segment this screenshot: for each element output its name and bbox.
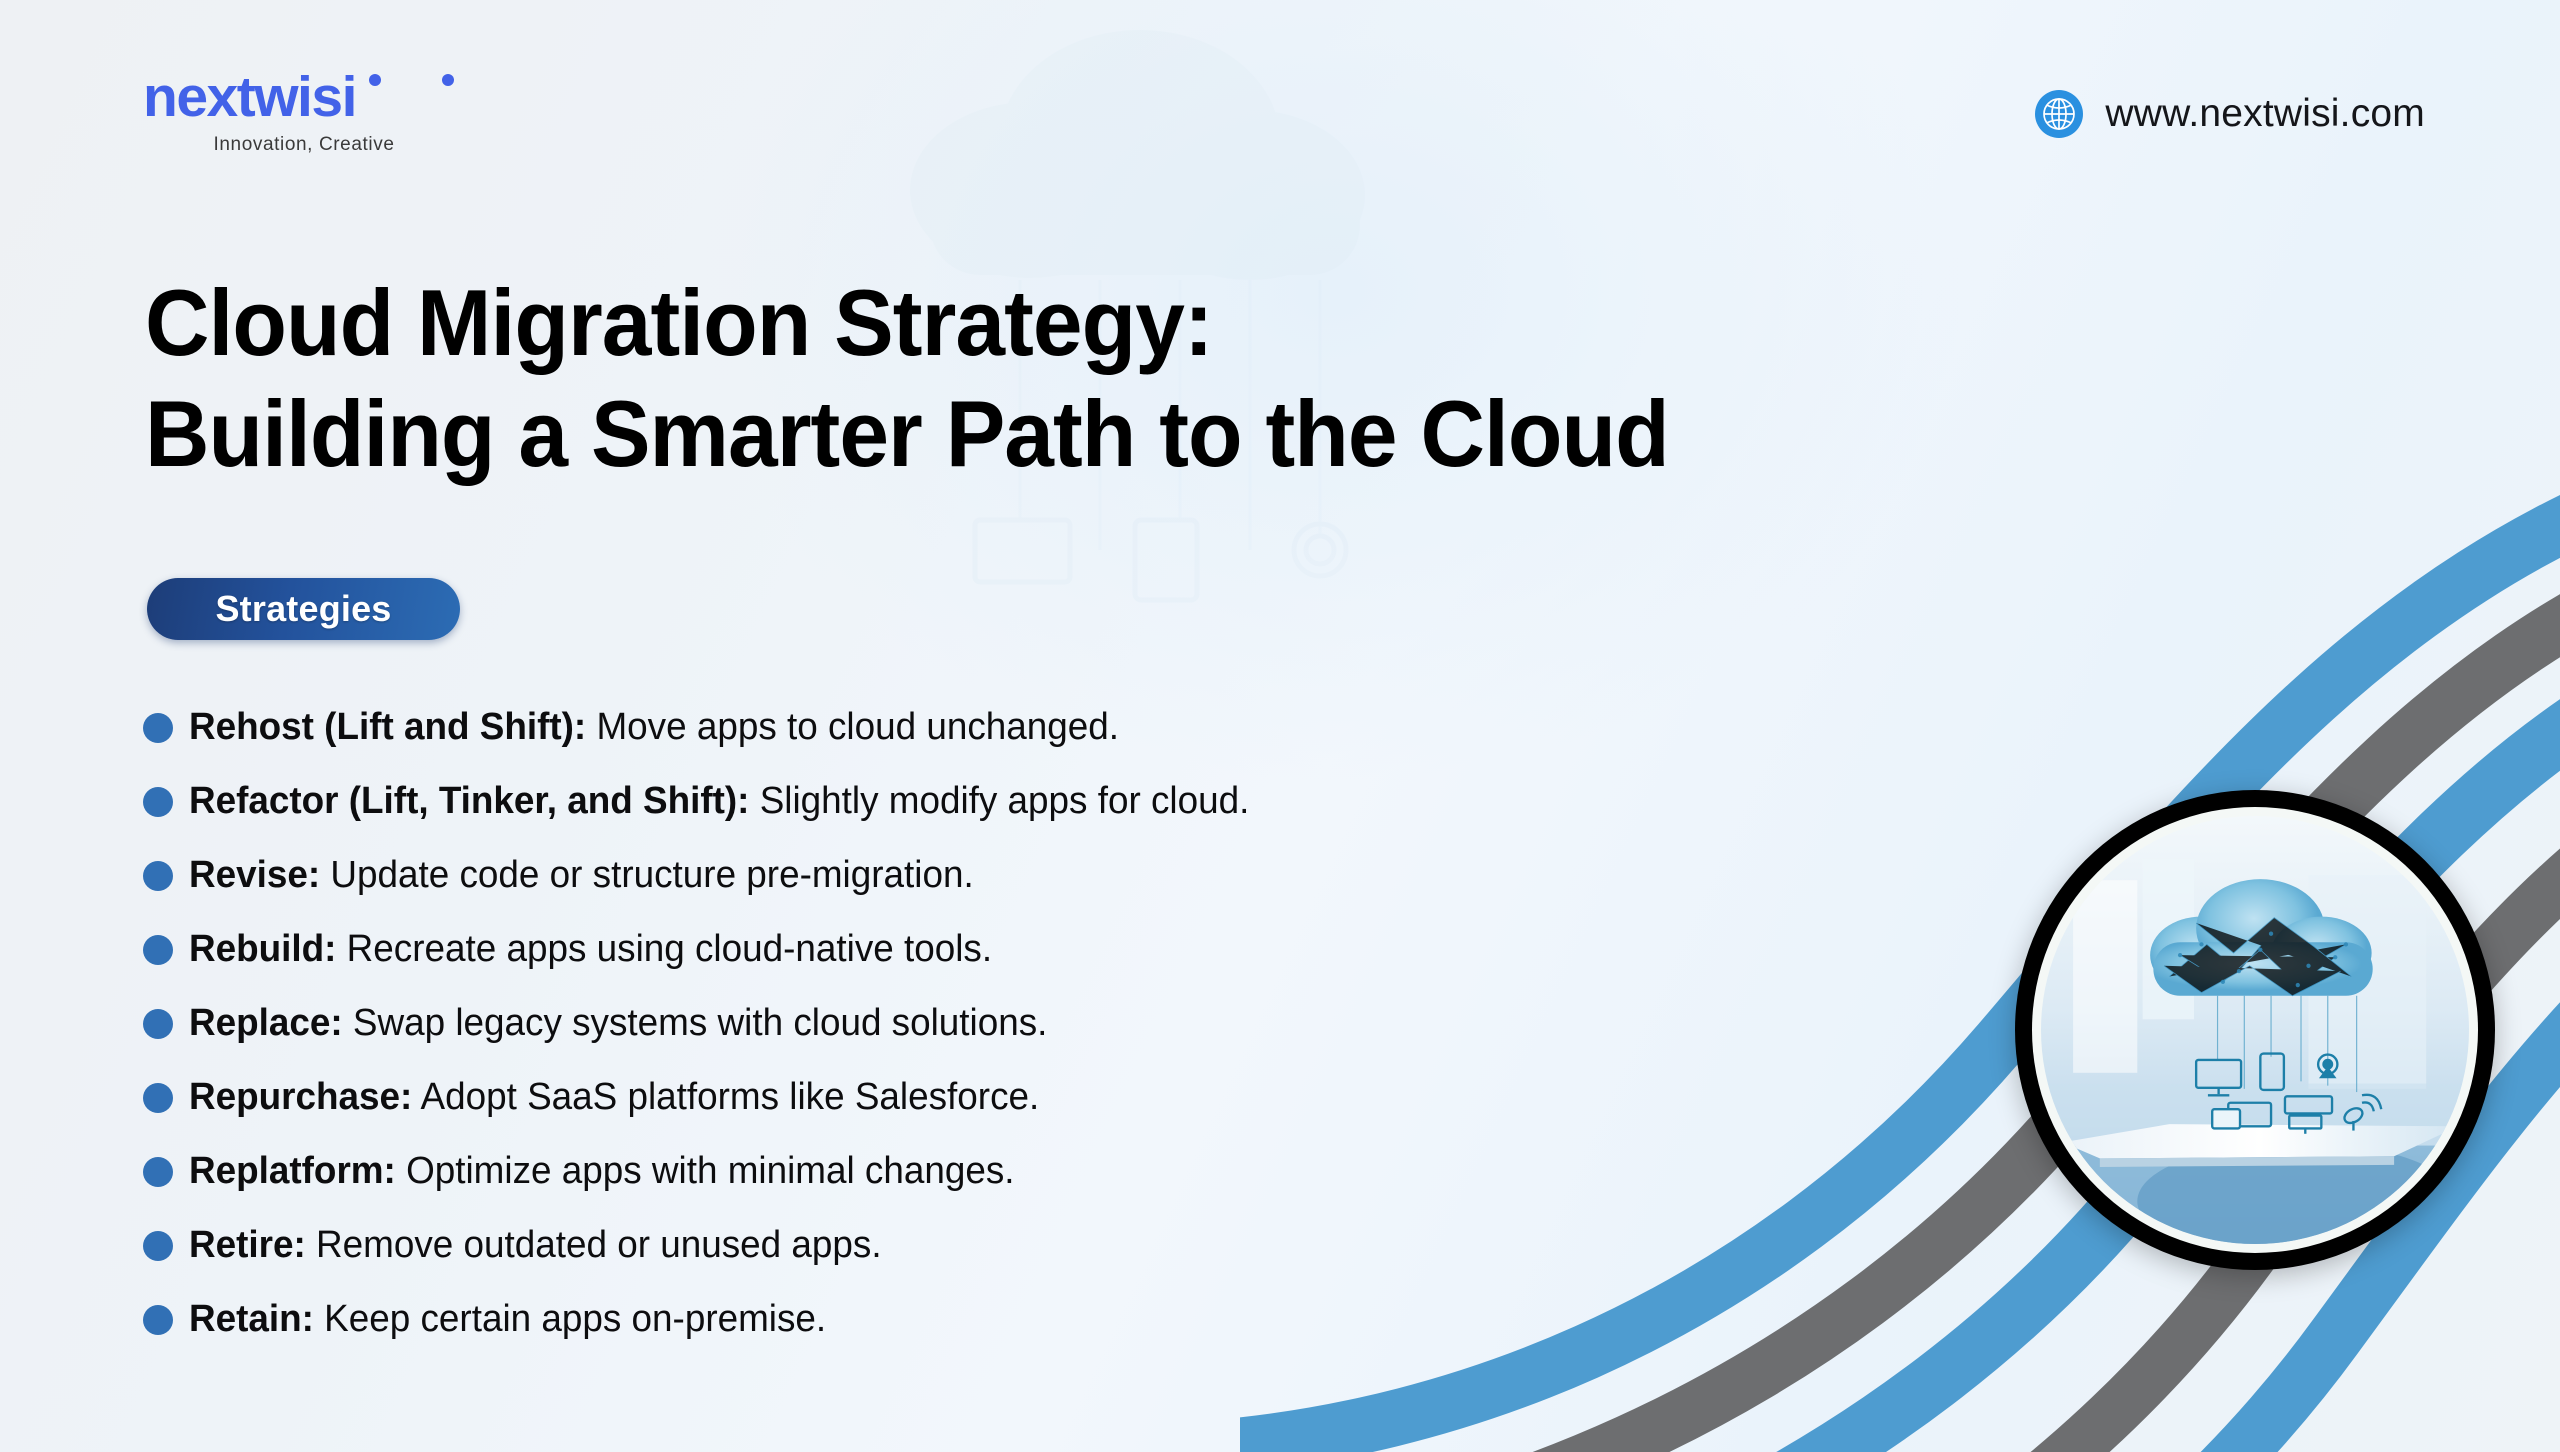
list-item-text: Rebuild: Recreate apps using cloud-nativ… bbox=[189, 922, 992, 977]
list-item-label: Refactor (Lift, Tinker, and Shift): bbox=[189, 780, 749, 822]
list-item: Replace: Swap legacy systems with cloud … bbox=[143, 996, 2143, 1070]
list-item-label: Rebuild: bbox=[189, 928, 336, 970]
list-item-description: Swap legacy systems with cloud solutions… bbox=[343, 1002, 1048, 1044]
strategies-badge-label: Strategies bbox=[215, 588, 391, 630]
nextwisi-wordmark: nextwisi bbox=[143, 68, 465, 130]
bullet-dot-icon bbox=[143, 1231, 173, 1261]
list-item: Retire: Remove outdated or unused apps. bbox=[143, 1218, 2143, 1292]
strategies-badge: Strategies bbox=[147, 578, 460, 640]
list-item-label: Retain: bbox=[189, 1298, 314, 1340]
list-item-label: Repurchase: bbox=[189, 1076, 412, 1118]
list-item: Rehost (Lift and Shift): Move apps to cl… bbox=[143, 700, 2143, 774]
list-item-description: Update code or structure pre-migration. bbox=[320, 854, 974, 896]
list-item-label: Replatform: bbox=[189, 1150, 396, 1192]
globe-icon bbox=[2035, 90, 2083, 138]
list-item-description: Remove outdated or unused apps. bbox=[306, 1224, 882, 1266]
list-item-description: Optimize apps with minimal changes. bbox=[396, 1150, 1015, 1192]
logo-tagline: Innovation, Creative bbox=[143, 134, 465, 156]
title-line-2: Building a Smarter Path to the Cloud bbox=[145, 379, 2283, 490]
list-item-description: Recreate apps using cloud-native tools. bbox=[336, 928, 992, 970]
title-line-1: Cloud Migration Strategy: bbox=[145, 268, 2283, 379]
bullet-dot-icon bbox=[143, 935, 173, 965]
list-item-description: Keep certain apps on-premise. bbox=[314, 1298, 826, 1340]
bullet-dot-icon bbox=[143, 1009, 173, 1039]
strategies-list: Rehost (Lift and Shift): Move apps to cl… bbox=[143, 700, 2143, 1366]
list-item: Replatform: Optimize apps with minimal c… bbox=[143, 1144, 2143, 1218]
list-item-text: Rehost (Lift and Shift): Move apps to cl… bbox=[189, 700, 1119, 755]
list-item-text: Replatform: Optimize apps with minimal c… bbox=[189, 1144, 1015, 1199]
list-item-label: Replace: bbox=[189, 1002, 343, 1044]
svg-text:nextwisi: nextwisi bbox=[143, 68, 356, 129]
list-item-text: Retain: Keep certain apps on-premise. bbox=[189, 1292, 826, 1347]
bullet-dot-icon bbox=[143, 861, 173, 891]
list-item: Retain: Keep certain apps on-premise. bbox=[143, 1292, 2143, 1366]
list-item: Refactor (Lift, Tinker, and Shift): Slig… bbox=[143, 774, 2143, 848]
list-item-text: Replace: Swap legacy systems with cloud … bbox=[189, 996, 1047, 1051]
list-item-description: Slightly modify apps for cloud. bbox=[749, 780, 1249, 822]
website-url-text: www.nextwisi.com bbox=[2105, 92, 2425, 136]
list-item-label: Retire: bbox=[189, 1224, 306, 1266]
list-item-label: Rehost (Lift and Shift): bbox=[189, 706, 586, 748]
bullet-dot-icon bbox=[143, 1083, 173, 1113]
page-title: Cloud Migration Strategy: Building a Sma… bbox=[145, 268, 2283, 490]
list-item-text: Repurchase: Adopt SaaS platforms like Sa… bbox=[189, 1070, 1039, 1125]
bullet-dot-icon bbox=[143, 787, 173, 817]
bullet-dot-icon bbox=[143, 1157, 173, 1187]
brand-logo[interactable]: nextwisi Innovation, Creative bbox=[143, 68, 465, 156]
list-item-description: Move apps to cloud unchanged. bbox=[586, 706, 1119, 748]
list-item-text: Refactor (Lift, Tinker, and Shift): Slig… bbox=[189, 774, 1249, 829]
website-url[interactable]: www.nextwisi.com bbox=[2035, 90, 2425, 138]
list-item: Revise: Update code or structure pre-mig… bbox=[143, 848, 2143, 922]
list-item-text: Revise: Update code or structure pre-mig… bbox=[189, 848, 974, 903]
list-item-text: Retire: Remove outdated or unused apps. bbox=[189, 1218, 882, 1273]
list-item: Rebuild: Recreate apps using cloud-nativ… bbox=[143, 922, 2143, 996]
list-item-description: Adopt SaaS platforms like Salesforce. bbox=[412, 1076, 1039, 1118]
bullet-dot-icon bbox=[143, 1305, 173, 1335]
list-item-label: Revise: bbox=[189, 854, 320, 896]
bullet-dot-icon bbox=[143, 713, 173, 743]
list-item: Repurchase: Adopt SaaS platforms like Sa… bbox=[143, 1070, 2143, 1144]
